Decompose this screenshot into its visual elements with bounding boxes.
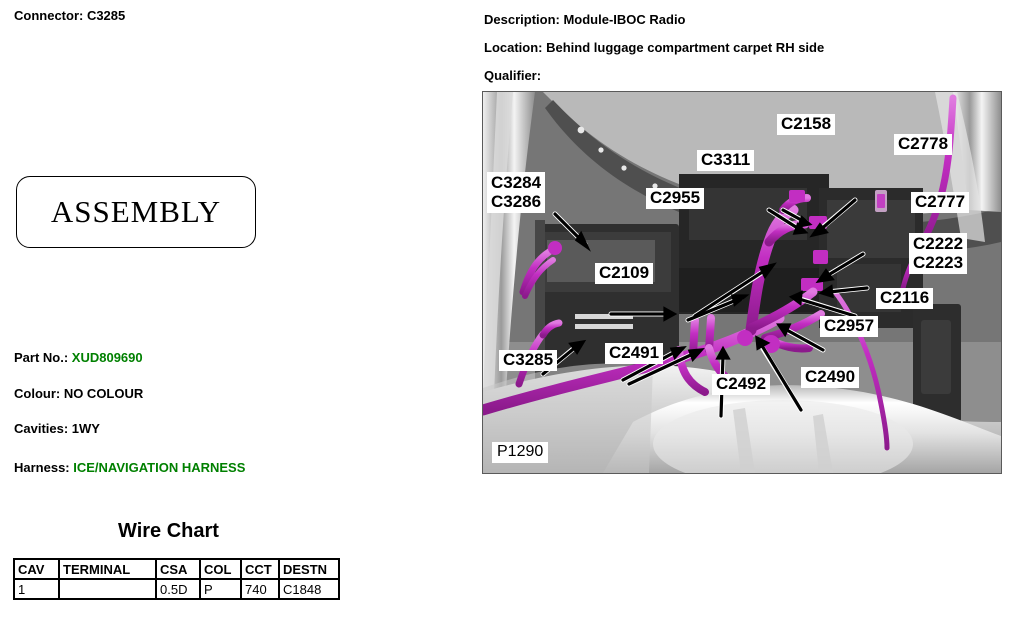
column-header-cav: CAV bbox=[14, 559, 59, 579]
column-header-terminal: TERMINAL bbox=[59, 559, 156, 579]
cell-terminal bbox=[59, 579, 156, 599]
callout-c2777: C2777 bbox=[911, 192, 969, 213]
colour-row: Colour: NO COLOUR bbox=[14, 387, 143, 400]
location-label: Location: Behind luggage compartment car… bbox=[484, 41, 824, 54]
column-header-destn: DESTN bbox=[279, 559, 339, 579]
description-label: Description: Module-IBOC Radio bbox=[484, 13, 686, 26]
callout-c3284-c3286: C3284 C3286 bbox=[487, 172, 545, 213]
callout-c2955: C2955 bbox=[646, 188, 704, 209]
table-header-row: CAV TERMINAL CSA COL CCT DESTN bbox=[14, 559, 339, 579]
wire-chart-table: CAV TERMINAL CSA COL CCT DESTN 1 0.5D P … bbox=[13, 558, 340, 600]
connector-label: Connector: C3285 bbox=[14, 9, 125, 22]
cell-cct: 740 bbox=[241, 579, 279, 599]
callout-c2158: C2158 bbox=[777, 114, 835, 135]
column-header-col: COL bbox=[200, 559, 241, 579]
column-header-cct: CCT bbox=[241, 559, 279, 579]
harness-row: Harness: ICE/NAVIGATION HARNESS bbox=[14, 461, 245, 474]
cell-cav: 1 bbox=[14, 579, 59, 599]
callout-c2109: C2109 bbox=[595, 263, 653, 284]
part-number-value: XUD809690 bbox=[72, 350, 143, 365]
wire-chart-title: Wire Chart bbox=[118, 520, 219, 543]
column-header-csa: CSA bbox=[156, 559, 200, 579]
qualifier-label: Qualifier: bbox=[484, 69, 541, 82]
callout-label-c3286: C3286 bbox=[491, 192, 541, 211]
cell-destn: C1848 bbox=[279, 579, 339, 599]
harness-value: ICE/NAVIGATION HARNESS bbox=[73, 460, 245, 475]
callout-c2957: C2957 bbox=[820, 316, 878, 337]
callout-c2778: C2778 bbox=[894, 134, 952, 155]
table-row: 1 0.5D P 740 C1848 bbox=[14, 579, 339, 599]
callout-label-c3284: C3284 bbox=[491, 173, 541, 192]
cell-csa: 0.5D bbox=[156, 579, 200, 599]
callout-c2116: C2116 bbox=[876, 288, 933, 309]
callout-c2491: C2491 bbox=[605, 343, 663, 364]
part-number-label: Part No.: bbox=[14, 350, 72, 365]
callout-label-c2223: C2223 bbox=[913, 253, 963, 272]
harness-label: Harness: bbox=[14, 460, 73, 475]
callout-c3311: C3311 bbox=[697, 150, 754, 171]
callout-c3285: C3285 bbox=[499, 350, 557, 371]
connector-location-photo: C3284 C3286 C2955 C3311 C2158 C2778 C277… bbox=[482, 91, 1002, 474]
callout-label-c2222: C2222 bbox=[913, 234, 963, 253]
photo-id-label: P1290 bbox=[492, 442, 548, 463]
callout-c2492: C2492 bbox=[712, 374, 770, 395]
assembly-badge: ASSEMBLY bbox=[16, 176, 256, 248]
cell-col: P bbox=[200, 579, 241, 599]
part-number-row: Part No.: XUD809690 bbox=[14, 351, 143, 364]
cavities-row: Cavities: 1WY bbox=[14, 422, 100, 435]
callout-c2490: C2490 bbox=[801, 367, 859, 388]
assembly-badge-label: ASSEMBLY bbox=[17, 194, 255, 230]
callout-c2222-c2223: C2222 C2223 bbox=[909, 233, 967, 274]
